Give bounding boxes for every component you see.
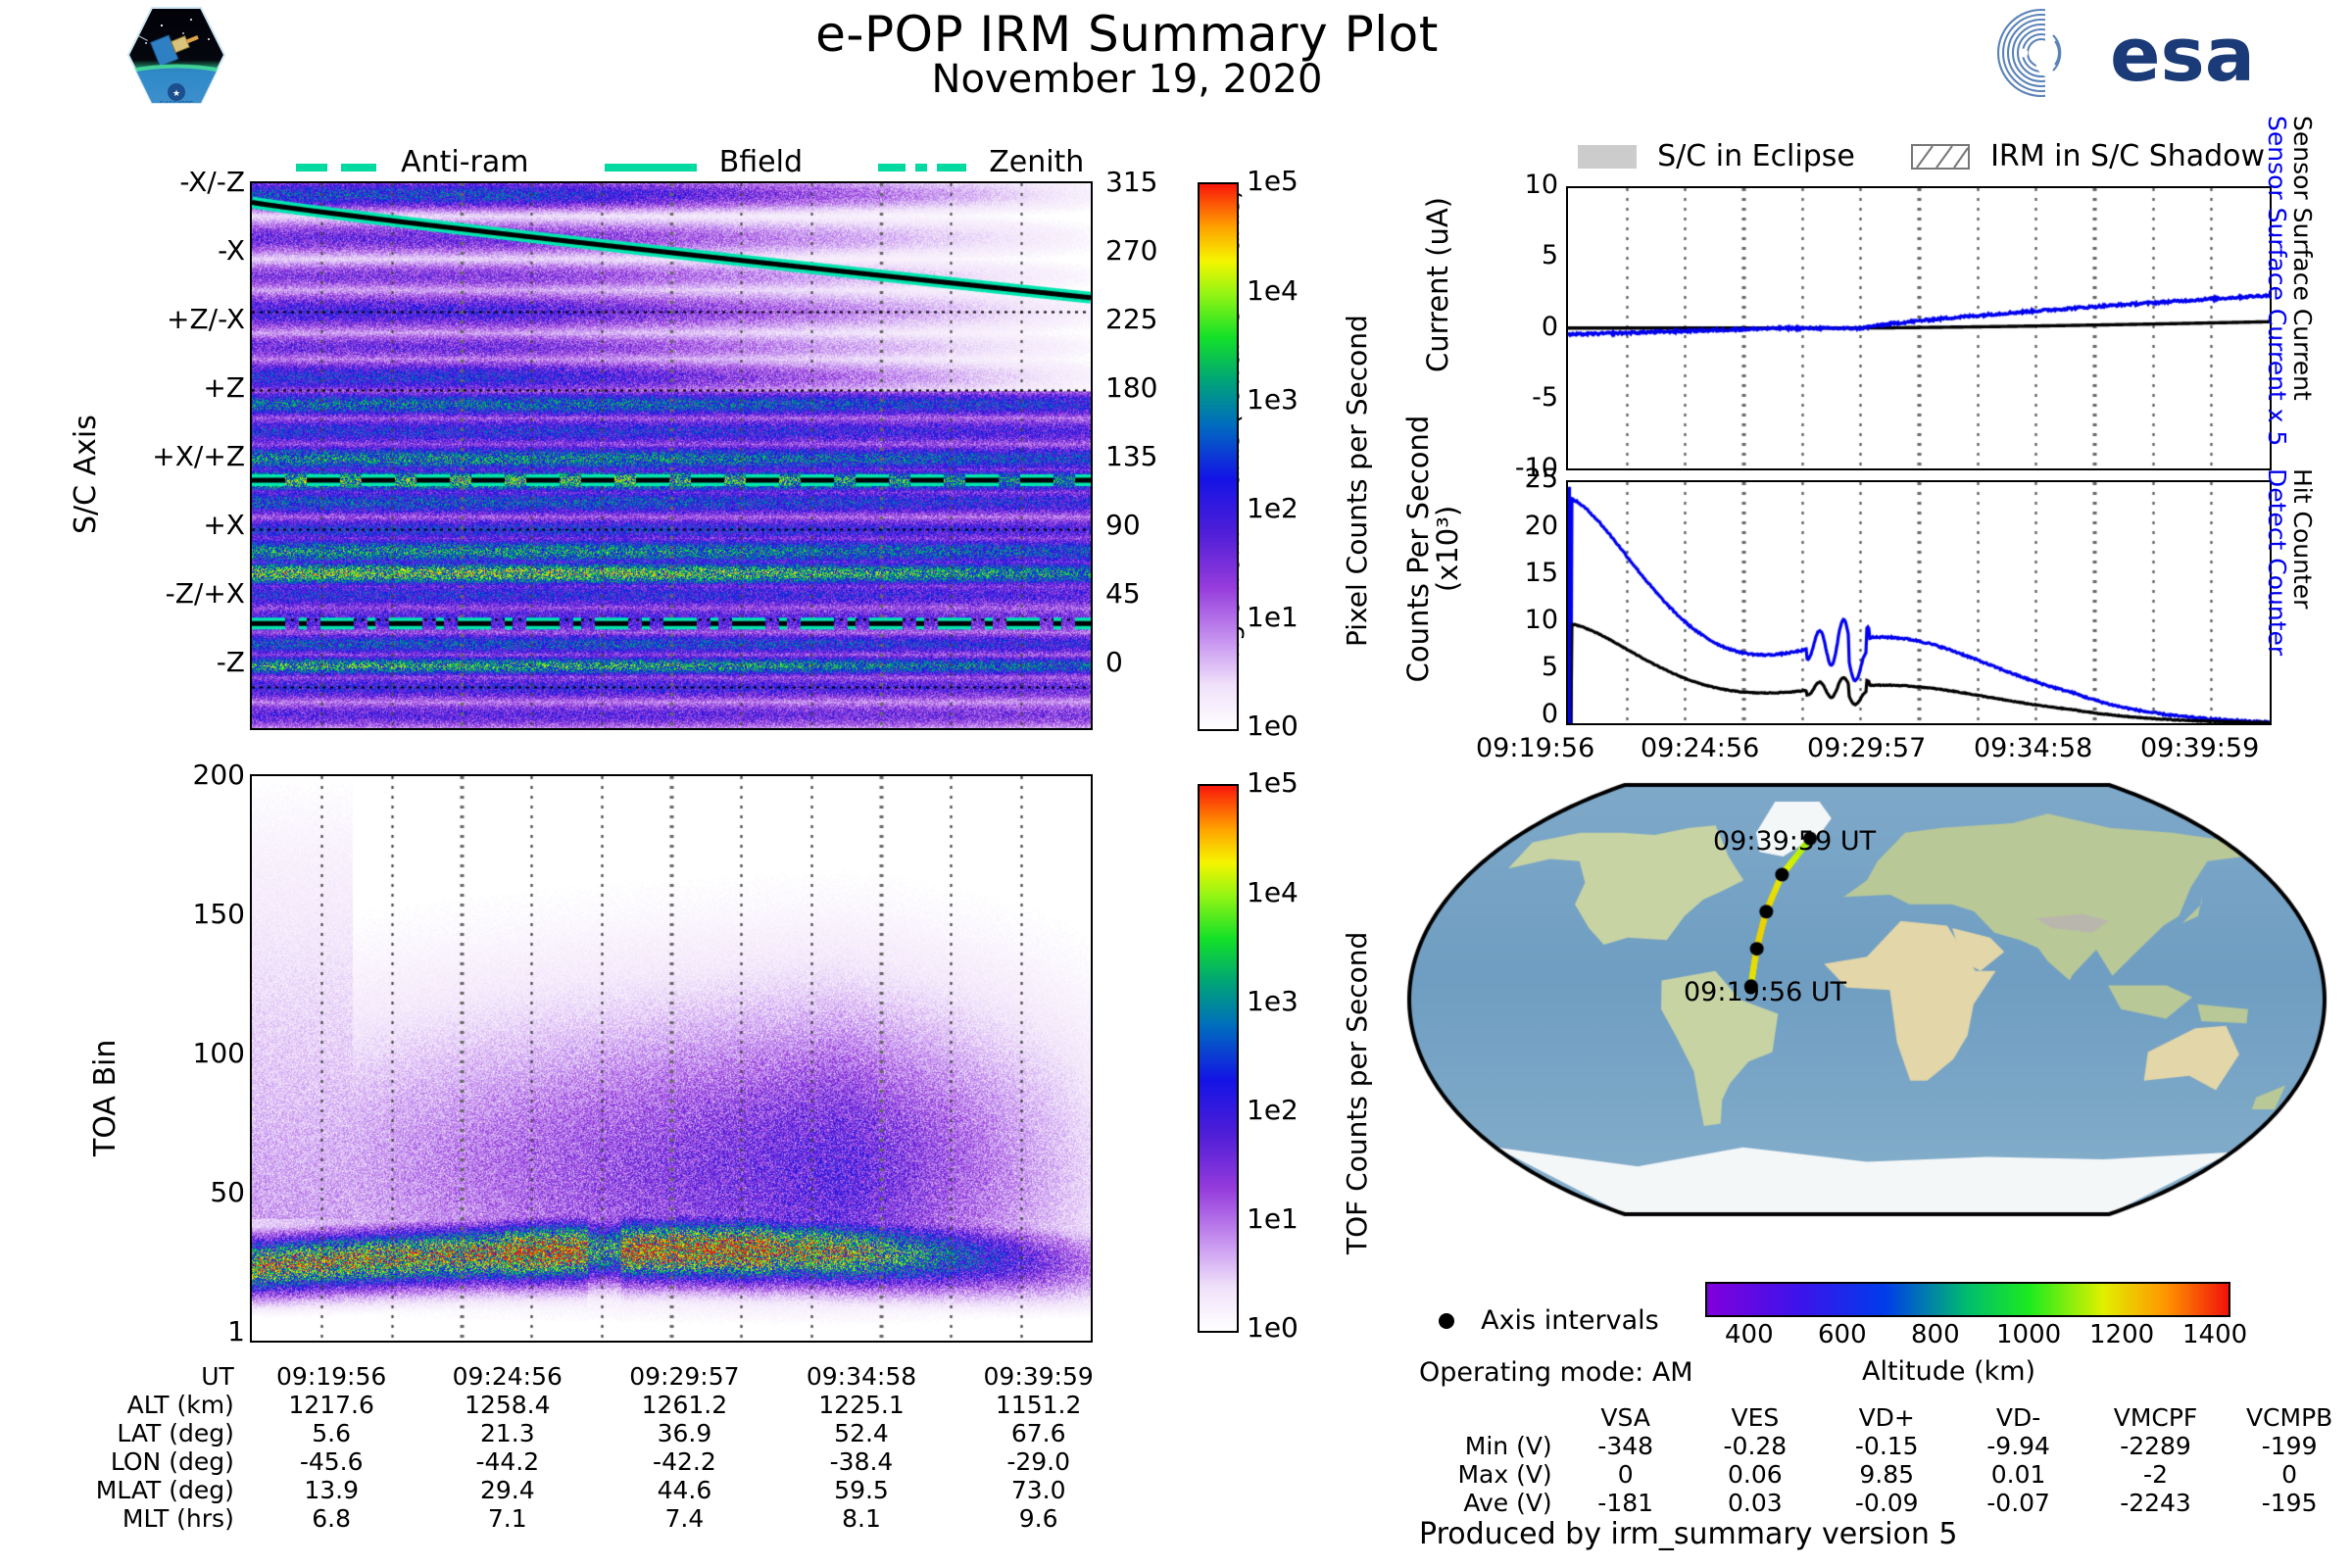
panel1-rtick-3: 180 xyxy=(1105,371,1157,404)
vmax-4: -2 xyxy=(2084,1460,2227,1489)
panel1-spectrogram[interactable] xyxy=(250,181,1093,730)
vcol-vdm: VD- xyxy=(1952,1403,2083,1432)
alt-cb-tick-4: 1200 xyxy=(2089,1320,2154,1349)
table-header-row: VSA VES VD+ VD- VMCPF VCMPB xyxy=(1419,1403,2352,1432)
footer-text: Produced by irm_summary version 5 xyxy=(1419,1517,1957,1551)
lat-2: 36.9 xyxy=(596,1419,773,1447)
vave-4: -2243 xyxy=(2084,1489,2227,1517)
table-row: ALT (km) 1217.6 1258.4 1261.2 1225.1 115… xyxy=(39,1391,1127,1419)
panel1-ytick-7: -Z xyxy=(217,646,245,678)
mlat-2: 44.6 xyxy=(596,1476,773,1504)
vmax-1: 0.06 xyxy=(1690,1460,1821,1489)
panel1-rtick-5: 90 xyxy=(1105,509,1141,541)
legend-label-anti-ram: Anti-ram xyxy=(401,145,528,179)
vmax-5: 0 xyxy=(2227,1460,2352,1489)
page-title: e-POP IRM Summary Plot xyxy=(686,6,1568,63)
eclipse-swatch xyxy=(1578,145,1637,169)
panel2-ytick-1: 150 xyxy=(193,898,245,930)
lon-0: -45.6 xyxy=(244,1447,419,1476)
panel1-ytick-6: -Z/+X xyxy=(166,577,245,610)
lon-4: -29.0 xyxy=(950,1447,1127,1476)
panel2-colorbar xyxy=(1198,784,1239,1333)
alt-cb-tick-1: 600 xyxy=(1818,1320,1867,1349)
mlt-3: 8.1 xyxy=(773,1504,951,1533)
lat-0: 5.6 xyxy=(244,1419,419,1447)
panel2-cb-tick-2: 1e3 xyxy=(1247,985,1298,1017)
map-marker-legend-label: Axis intervals xyxy=(1481,1305,1659,1336)
panel2-ytick-3: 50 xyxy=(210,1176,245,1208)
table-row: LON (deg) -45.6 -44.2 -42.2 -38.4 -29.0 xyxy=(39,1447,1127,1476)
legend-label-bfield: Bfield xyxy=(719,145,803,179)
panel1-ytick-3: +Z xyxy=(203,371,245,404)
panel1-ytick-5: +X xyxy=(203,509,245,541)
panel2-cb-tick-0: 1e5 xyxy=(1247,766,1298,799)
panel2-colorbar-ticks: 1e5 1e4 1e3 1e2 1e1 1e0 xyxy=(1247,784,1335,1333)
vcol-ves: VES xyxy=(1690,1403,1821,1432)
row-label-alt: ALT (km) xyxy=(39,1391,244,1419)
lat-4: 67.6 xyxy=(950,1419,1127,1447)
counts-xtick-2: 09:29:57 xyxy=(1807,733,1926,763)
vmin-2: -0.15 xyxy=(1821,1432,1952,1460)
table-row: Min (V) -348 -0.28 -0.15 -9.94 -2289 -19… xyxy=(1419,1432,2352,1460)
panel1-colorbar xyxy=(1198,182,1239,731)
vmin-3: -9.94 xyxy=(1952,1432,2083,1460)
lat-1: 21.3 xyxy=(418,1419,596,1447)
vmin-0: -348 xyxy=(1562,1432,1690,1460)
ut-1: 09:24:56 xyxy=(418,1362,596,1391)
panel2-cb-tick-4: 1e1 xyxy=(1247,1202,1298,1235)
panel1-cb-tick-4: 1e1 xyxy=(1247,601,1298,633)
row-label-mlt: MLT (hrs) xyxy=(39,1504,244,1533)
panel1-rtick-2: 225 xyxy=(1105,303,1157,335)
panel2-spectrogram[interactable] xyxy=(250,774,1093,1343)
lat-3: 52.4 xyxy=(773,1419,951,1447)
vrow-label-max: Max (V) xyxy=(1419,1460,1562,1489)
counts-panel-plot[interactable] xyxy=(1566,480,2272,725)
current-panel-yticks: 10 5 0 -5 -10 xyxy=(1450,186,1558,470)
counts-ytick-1: 20 xyxy=(1525,511,1558,541)
alt-cb-tick-2: 800 xyxy=(1911,1320,1960,1349)
counts-ytick-5: 0 xyxy=(1542,699,1558,729)
counts-xtick-0: 09:19:56 xyxy=(1476,733,1594,763)
panel2-colorbar-label: TOF Counts per Second xyxy=(1341,932,1373,1254)
legend-label-zenith: Zenith xyxy=(989,145,1084,179)
current-ytick-3: -5 xyxy=(1532,382,1558,413)
panel1-legend: Anti-ram Bfield Zenith xyxy=(294,145,1084,179)
counts-ytick-3: 10 xyxy=(1525,605,1558,635)
ephemeris-table: UT 09:19:56 09:24:56 09:29:57 09:34:58 0… xyxy=(39,1362,1127,1533)
alt-1: 1258.4 xyxy=(418,1391,596,1419)
table-row: Max (V) 0 0.06 9.85 0.01 -2 0 xyxy=(1419,1460,2352,1489)
vave-1: 0.03 xyxy=(1690,1489,1821,1517)
map-start-label: 09:19:56 UT xyxy=(1684,977,1846,1007)
current-ytick-2: 0 xyxy=(1542,312,1558,342)
vmax-3: 0.01 xyxy=(1952,1460,2083,1489)
panel1-right-ticks: 315 270 225 180 135 90 45 0 xyxy=(1105,181,1194,730)
page-subtitle-date: November 19, 2020 xyxy=(686,57,1568,102)
current-ytick-1: 5 xyxy=(1542,240,1558,270)
current-panel-ylabel: Current (uA) xyxy=(1421,197,1454,372)
mlat-0: 13.9 xyxy=(244,1476,419,1504)
panel2-cb-tick-1: 1e4 xyxy=(1247,876,1298,908)
panel1-ytick-4: +X/+Z xyxy=(152,440,245,472)
voltage-table: VSA VES VD+ VD- VMCPF VCMPB Min (V) -348… xyxy=(1419,1403,2352,1517)
panel2-cb-tick-5: 1e0 xyxy=(1247,1311,1298,1344)
alt-cb-tick-3: 1000 xyxy=(1996,1320,2061,1349)
map-marker-legend: Axis intervals xyxy=(1439,1305,1659,1336)
ut-0: 09:19:56 xyxy=(244,1362,419,1391)
panel1-ytick-1: -X xyxy=(218,234,245,267)
mlt-0: 6.8 xyxy=(244,1504,419,1533)
vave-5: -195 xyxy=(2227,1489,2352,1517)
counts-xtick-1: 09:24:56 xyxy=(1641,733,1759,763)
panel1-cb-tick-0: 1e5 xyxy=(1247,165,1298,197)
table-row: Ave (V) -181 0.03 -0.09 -0.07 -2243 -195 xyxy=(1419,1489,2352,1517)
alt-0: 1217.6 xyxy=(244,1391,419,1419)
panel1-cb-tick-5: 1e0 xyxy=(1247,710,1298,742)
vmax-0: 0 xyxy=(1562,1460,1690,1489)
vmin-5: -199 xyxy=(2227,1432,2352,1460)
row-label-ut: UT xyxy=(39,1362,244,1391)
panel1-rtick-1: 270 xyxy=(1105,234,1157,267)
table-row: UT 09:19:56 09:24:56 09:29:57 09:34:58 0… xyxy=(39,1362,1127,1391)
panel2-ytick-labels: 200 150 100 50 1 xyxy=(127,774,245,1343)
map-end-label: 09:39:59 UT xyxy=(1713,826,1876,857)
counts-xtick-3: 09:34:58 xyxy=(1974,733,2092,763)
zenith-line-swatch xyxy=(876,161,970,174)
current-panel-plot[interactable] xyxy=(1566,186,2272,470)
panel1-rtick-6: 45 xyxy=(1105,577,1141,610)
shadow-hatch-swatch xyxy=(1911,144,1970,170)
mission-logo: ★ CASSIOPE xyxy=(122,4,230,107)
table-row: MLAT (deg) 13.9 29.4 44.6 59.5 73.0 xyxy=(39,1476,1127,1504)
mlat-1: 29.4 xyxy=(418,1476,596,1504)
right-legend: S/C in Eclipse IRM in S/C Shadow xyxy=(1578,139,2265,173)
ut-3: 09:34:58 xyxy=(773,1362,951,1391)
counts-ytick-2: 15 xyxy=(1525,558,1558,588)
mlat-4: 73.0 xyxy=(950,1476,1127,1504)
panel1-colorbar-ticks: 1e5 1e4 1e3 1e2 1e1 1e0 xyxy=(1247,182,1335,731)
alt-cb-tick-0: 400 xyxy=(1725,1320,1774,1349)
mlt-2: 7.4 xyxy=(596,1504,773,1533)
anti-ram-line-swatch xyxy=(294,161,382,174)
legend-label-eclipse: S/C in Eclipse xyxy=(1657,139,1855,173)
vcol-vdp: VD+ xyxy=(1821,1403,1952,1432)
vcol-vcmpb: VCMPB xyxy=(2227,1403,2352,1432)
row-label-lon: LON (deg) xyxy=(39,1447,244,1476)
mlat-3: 59.5 xyxy=(773,1476,951,1504)
counts-panel-yticks: 25 20 15 10 5 0 xyxy=(1450,480,1558,715)
altitude-colorbar xyxy=(1705,1282,2230,1317)
svg-text:★: ★ xyxy=(172,89,180,99)
vave-3: -0.07 xyxy=(1952,1489,2083,1517)
vmax-2: 9.85 xyxy=(1821,1460,1952,1489)
alt-3: 1225.1 xyxy=(773,1391,951,1419)
counts-ytick-0: 25 xyxy=(1525,464,1558,494)
lon-3: -38.4 xyxy=(773,1447,951,1476)
vrow-label-ave: Ave (V) xyxy=(1419,1489,1562,1517)
panel2-ytick-2: 100 xyxy=(193,1037,245,1069)
lon-1: -44.2 xyxy=(418,1447,596,1476)
orbit-map[interactable]: 09:39:59 UT 09:19:56 UT xyxy=(1401,779,2332,1220)
panel2-ytick-0: 200 xyxy=(193,759,245,791)
mlt-4: 9.6 xyxy=(950,1504,1127,1533)
panel1-ytick-2: +Z/-X xyxy=(167,303,245,335)
current-right-label-blue: Sensor Surface Current x 5 xyxy=(2263,116,2291,446)
panel1-cb-tick-1: 1e4 xyxy=(1247,274,1298,307)
panel1-ylabel: S/C Axis xyxy=(69,415,103,534)
altitude-colorbar-label: Altitude (km) xyxy=(1862,1356,2035,1387)
panel1-cb-tick-3: 1e2 xyxy=(1247,492,1298,524)
axis-interval-dot-icon xyxy=(1439,1313,1454,1329)
current-ytick-0: 10 xyxy=(1525,170,1558,200)
vmin-1: -0.28 xyxy=(1690,1432,1821,1460)
vcol-vsa: VSA xyxy=(1562,1403,1690,1432)
vave-2: -0.09 xyxy=(1821,1489,1952,1517)
vmin-4: -2289 xyxy=(2084,1432,2227,1460)
bfield-line-swatch xyxy=(603,161,701,174)
alt-2: 1261.2 xyxy=(596,1391,773,1419)
panel1-rtick-7: 0 xyxy=(1105,646,1123,678)
panel1-ytick-labels: -X/-Z -X +Z/-X +Z +X/+Z +X -Z/+X -Z xyxy=(108,181,245,730)
counts-ytick-4: 5 xyxy=(1542,652,1558,682)
row-label-lat: LAT (deg) xyxy=(39,1419,244,1447)
esa-logo: esa xyxy=(1994,6,2327,100)
lon-2: -42.2 xyxy=(596,1447,773,1476)
table-row: MLT (hrs) 6.8 7.1 7.4 8.1 9.6 xyxy=(39,1504,1127,1533)
ut-2: 09:29:57 xyxy=(596,1362,773,1391)
legend-label-shadow: IRM in S/C Shadow xyxy=(1990,139,2265,173)
table-row: LAT (deg) 5.6 21.3 36.9 52.4 67.6 xyxy=(39,1419,1127,1447)
alt-cb-tick-5: 1400 xyxy=(2182,1320,2247,1349)
panel1-rtick-4: 135 xyxy=(1105,440,1157,472)
counts-right-label-blue: Detect Counter xyxy=(2263,468,2291,656)
vrow-label-min: Min (V) xyxy=(1419,1432,1562,1460)
panel2-ylabel: TOA Bin xyxy=(88,1040,122,1156)
panel1-cb-tick-2: 1e3 xyxy=(1247,383,1298,416)
ut-4: 09:39:59 xyxy=(950,1362,1127,1391)
esa-logo-text: esa xyxy=(2110,11,2255,98)
vave-0: -181 xyxy=(1562,1489,1690,1517)
panel1-colorbar-label: Pixel Counts per Second xyxy=(1341,315,1373,647)
panel2-ytick-4: 1 xyxy=(227,1315,245,1347)
vcol-vmcpf: VMCPF xyxy=(2084,1403,2227,1432)
counts-xtick-4: 09:39:59 xyxy=(2140,733,2259,763)
mlt-1: 7.1 xyxy=(418,1504,596,1533)
panel1-rtick-0: 315 xyxy=(1105,166,1157,198)
row-label-mlat: MLAT (deg) xyxy=(39,1476,244,1504)
alt-4: 1151.2 xyxy=(950,1391,1127,1419)
operating-mode: Operating mode: AM xyxy=(1419,1357,1693,1388)
panel2-cb-tick-3: 1e2 xyxy=(1247,1094,1298,1126)
counts-right-label-black: Hit Counter xyxy=(2288,468,2317,609)
panel1-ytick-0: -X/-Z xyxy=(179,166,245,198)
voltage-corner-cell xyxy=(1419,1403,1562,1432)
current-right-label-black: Sensor Surface Current xyxy=(2288,116,2317,401)
